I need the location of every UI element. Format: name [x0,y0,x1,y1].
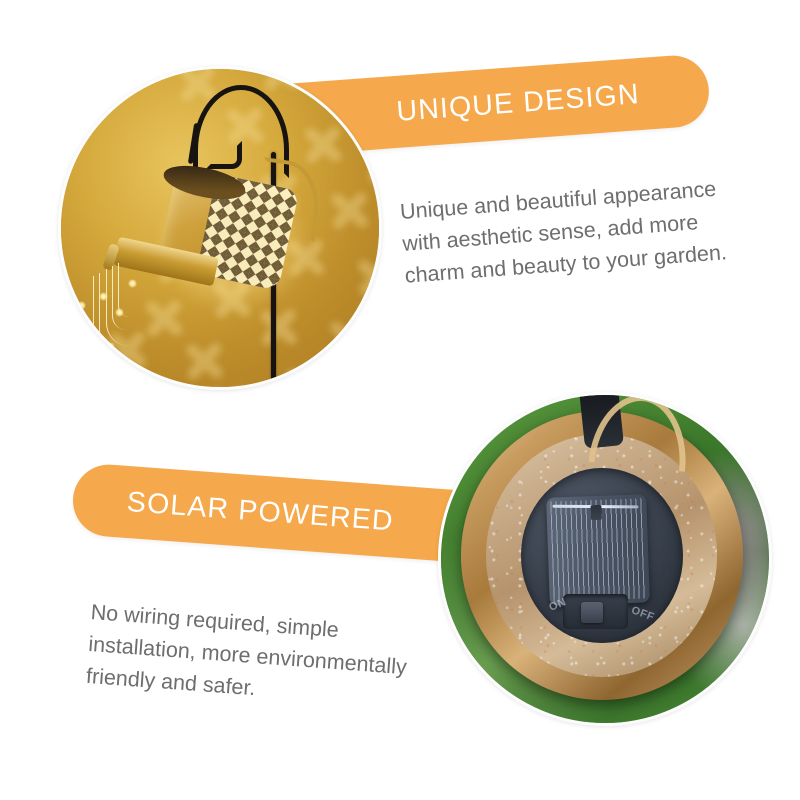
photo-solar-powered-inner: ON OFF [441,395,769,723]
description-solar-powered: No wiring required, simple installation,… [85,596,436,717]
photo-solar-powered: ON OFF [438,392,772,726]
photo-unique-design [58,66,382,390]
power-switch-housing[interactable] [563,594,628,629]
shepherd-hook-tip [206,141,242,169]
photovoltaic-panel [546,495,650,607]
photovoltaic-notch [591,505,603,521]
infographic-canvas: UNIQUE DESIGN Unique and beautiful appea… [0,0,800,800]
power-switch-knob[interactable] [581,602,603,624]
solar-cap-face: ON OFF [521,468,683,643]
photo-unique-design-inner [61,69,379,387]
banner-solar-powered-label: SOLAR POWERED [126,485,395,537]
banner-solar-powered: SOLAR POWERED [70,462,484,564]
power-switch-off-label: OFF [629,604,655,623]
description-unique-design: Unique and beautiful appearance with aes… [399,170,755,291]
banner-unique-design-label: UNIQUE DESIGN [395,78,640,129]
